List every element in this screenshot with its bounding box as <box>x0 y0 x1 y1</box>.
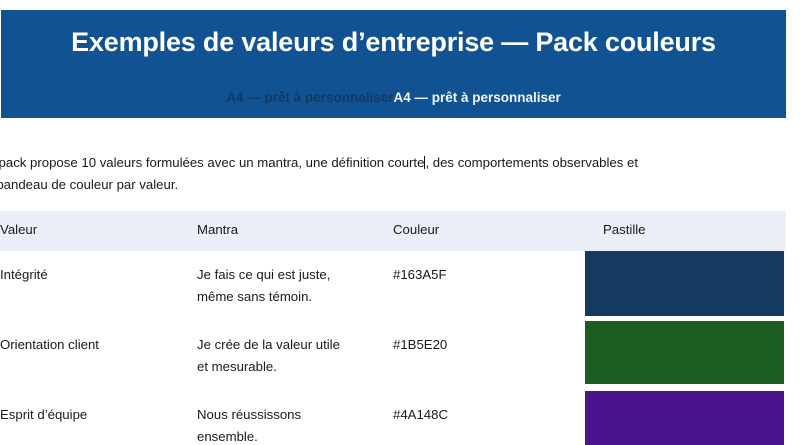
cell-pastille <box>585 251 786 321</box>
document-subtitle-first: A4 — prêt à personnaliser <box>226 90 393 105</box>
table-row[interactable]: Orientation client Je crée de la valeur … <box>0 321 786 391</box>
column-header-pastille[interactable]: Pastille <box>585 211 786 251</box>
values-table: Valeur Mantra Couleur Pastille Intégrité… <box>0 211 786 445</box>
color-swatch <box>585 391 784 445</box>
document-page: Exemples de valeurs d’entreprise — Pack … <box>0 0 800 445</box>
intro-line1-after-caret: , des comportements observables et <box>425 155 638 170</box>
column-header-couleur[interactable]: Couleur <box>371 211 585 251</box>
cell-couleur-hex: #163A5F <box>371 251 585 321</box>
intro-paragraph[interactable]: Ce pack propose 10 valeurs formulées ave… <box>0 152 790 196</box>
document-title: Exemples de valeurs d’entreprise — Pack … <box>1 27 786 58</box>
cell-mantra: Je crée de la valeur utile et mesurable. <box>175 321 371 391</box>
intro-line2: un bandeau de couleur par valeur. <box>0 177 178 192</box>
table-header-row: Valeur Mantra Couleur Pastille <box>0 211 786 251</box>
document-subtitle-second: A4 — prêt à personnaliser <box>394 90 561 105</box>
column-header-valeur[interactable]: Valeur <box>0 211 175 251</box>
cell-pastille <box>585 321 786 391</box>
color-swatch <box>585 321 784 384</box>
cell-couleur-hex: #1B5E20 <box>371 321 585 391</box>
color-swatch <box>585 251 784 316</box>
cell-valeur: Orientation client <box>0 321 175 391</box>
intro-line1-before-caret: Ce pack propose 10 valeurs formulées ave… <box>0 155 424 170</box>
document-subtitle: A4 — prêt à personnaliserA4 — prêt à per… <box>1 90 786 105</box>
cell-couleur-hex: #4A148C <box>371 391 585 445</box>
cell-valeur: Esprit d’équipe <box>0 391 175 445</box>
column-header-mantra[interactable]: Mantra <box>175 211 371 251</box>
table-row[interactable]: Intégrité Je fais ce qui est juste, même… <box>0 251 786 321</box>
cell-pastille <box>585 391 786 445</box>
title-banner: Exemples de valeurs d’entreprise — Pack … <box>1 10 786 118</box>
cell-valeur: Intégrité <box>0 251 175 321</box>
cell-mantra: Nous réussissons ensemble. <box>175 391 371 445</box>
table-row[interactable]: Esprit d’équipe Nous réussissons ensembl… <box>0 391 786 445</box>
cell-mantra: Je fais ce qui est juste, même sans témo… <box>175 251 371 321</box>
